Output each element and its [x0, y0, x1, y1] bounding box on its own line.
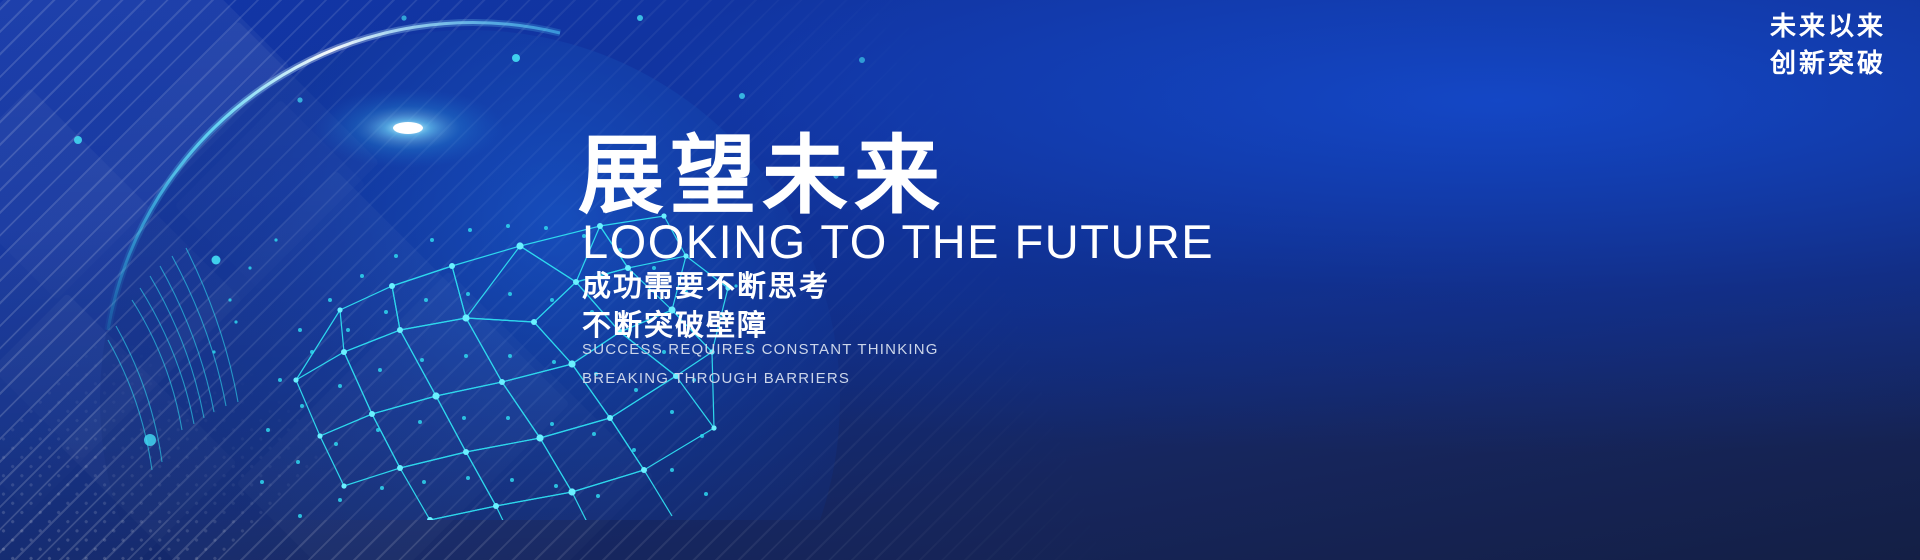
- corner-slogan: 未来以来 创新突破: [1770, 8, 1886, 82]
- subtitle-en-block: SUCCESS REQUIRES CONSTANT THINKING BREAK…: [582, 335, 939, 394]
- headline-block: 展望未来 LOOKING TO THE FUTURE 成功需要不断思考 不断突破…: [0, 0, 1920, 560]
- corner-slogan-line-2: 创新突破: [1770, 45, 1886, 82]
- corner-slogan-line-1: 未来以来: [1770, 8, 1886, 45]
- subtitle-en-line-1: SUCCESS REQUIRES CONSTANT THINKING: [582, 335, 939, 364]
- subtitle-cn-line-1: 成功需要不断思考: [582, 268, 830, 307]
- page-title-en: LOOKING TO THE FUTURE: [582, 218, 1214, 265]
- subtitle-en-line-2: BREAKING THROUGH BARRIERS: [582, 364, 939, 393]
- banner-root: 展望未来 LOOKING TO THE FUTURE 成功需要不断思考 不断突破…: [0, 0, 1920, 560]
- page-title-cn: 展望未来: [578, 133, 946, 219]
